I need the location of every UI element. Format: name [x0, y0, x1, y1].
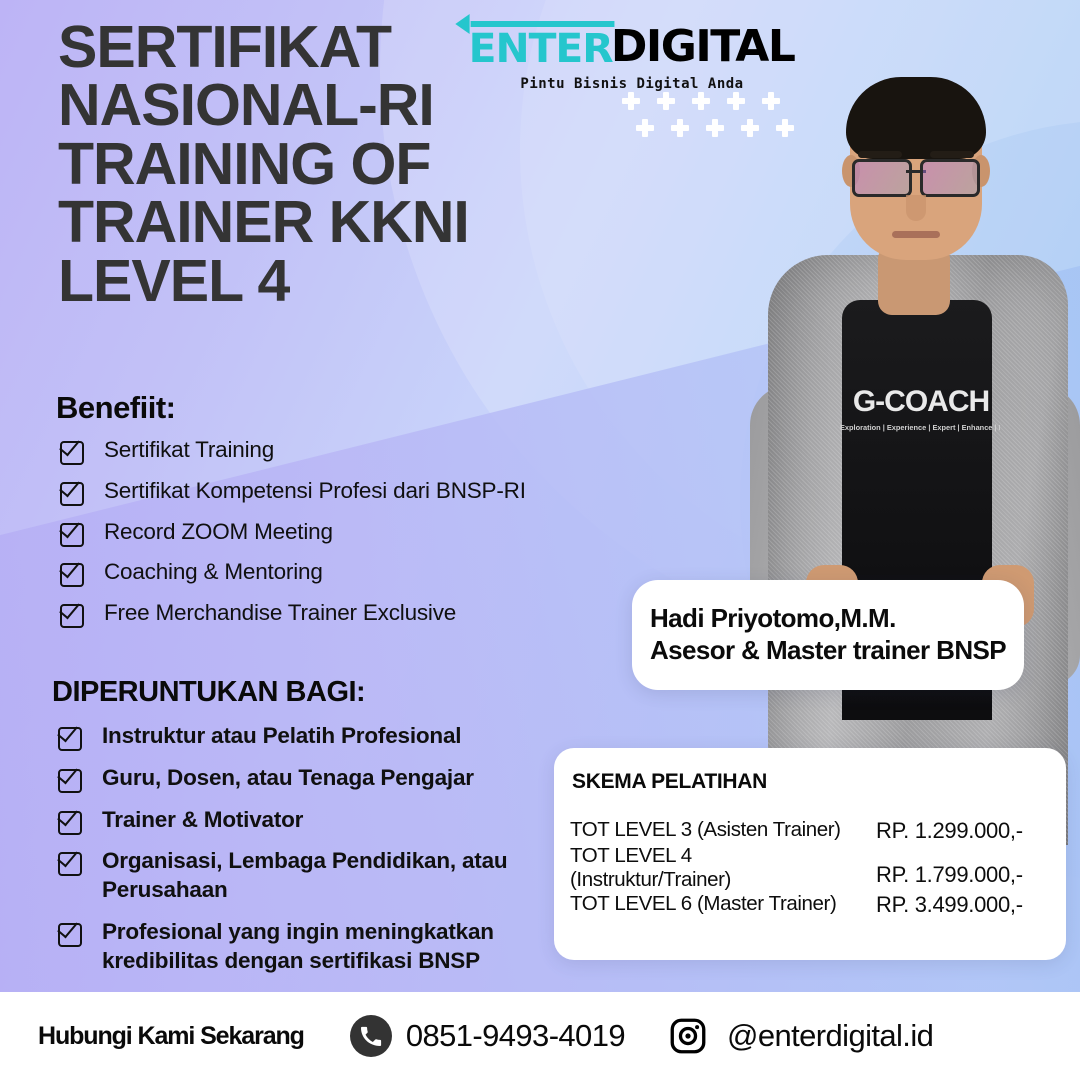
photo-tshirt-text: G-COACH [846, 385, 996, 419]
poster: SERTIFIKAT NASIONAL-RI TRAINING OF TRAIN… [0, 0, 1080, 1080]
pricing-label: TOT LEVEL 4 (Instruktur/Trainer) [570, 844, 876, 892]
logo-enter-label: ENTER [468, 26, 612, 72]
checkbox-checked-icon [58, 850, 82, 874]
logo-wordmark: ENTER DIGITAL [512, 22, 752, 69]
pricing-price: RP. 1.299.000,- [876, 818, 1023, 844]
phone-icon[interactable] [350, 1015, 392, 1057]
pricing-label: TOT LEVEL 3 (Asisten Trainer) [570, 818, 876, 842]
pricing-row: TOT LEVEL 4 (Instruktur/Trainer) RP. 1.7… [570, 844, 1056, 892]
list-item-label: Record ZOOM Meeting [104, 518, 333, 547]
photo-hair [846, 77, 986, 159]
list-item: Record ZOOM Meeting [60, 518, 590, 547]
list-item: Instruktur atau Pelatih Profesional [58, 722, 578, 751]
photo-eyebrow-right [930, 151, 974, 158]
photo-nose [906, 195, 926, 221]
pricing-rows: TOT LEVEL 3 (Asisten Trainer) RP. 1.299.… [570, 818, 1056, 918]
speaker-name-card: Hadi Priyotomo,M.M. Asesor & Master trai… [632, 580, 1024, 690]
list-item-label: Sertifikat Kompetensi Profesi dari BNSP-… [104, 477, 526, 506]
list-item-label: Trainer & Motivator [102, 806, 303, 835]
list-item: Coaching & Mentoring [60, 558, 590, 587]
contact-phone-number[interactable]: 0851-9493-4019 [406, 1018, 625, 1054]
pricing-price: RP. 3.499.000,- [876, 892, 1023, 918]
checkbox-checked-icon [58, 921, 82, 945]
benefit-list: Sertifikat Training Sertifikat Kompetens… [60, 436, 590, 640]
list-item: Trainer & Motivator [58, 806, 578, 835]
contact-instagram-handle[interactable]: @enterdigital.id [727, 1018, 933, 1054]
checkbox-checked-icon [58, 809, 82, 833]
checkbox-checked-icon [60, 439, 84, 463]
pricing-price: RP. 1.799.000,- [876, 844, 1023, 888]
logo-enter-text: ENTER [468, 22, 612, 69]
logo-arrow-bar-icon [470, 21, 614, 27]
target-heading: DIPERUNTUKAN BAGI: [52, 676, 365, 709]
photo-eyebrow-left [858, 151, 902, 158]
checkbox-checked-icon [60, 561, 84, 585]
list-item: Organisasi, Lembaga Pendidikan, atau Per… [58, 847, 578, 905]
list-item-label: Instruktur atau Pelatih Profesional [102, 722, 461, 751]
speaker-name: Hadi Priyotomo,M.M. [650, 603, 1006, 635]
checkbox-checked-icon [58, 767, 82, 791]
list-item: Guru, Dosen, atau Tenaga Pengajar [58, 764, 578, 793]
photo-mouth [892, 231, 940, 238]
pricing-card: SKEMA PELATIHAN TOT LEVEL 3 (Asisten Tra… [554, 748, 1066, 960]
plus-icon [657, 92, 675, 110]
glasses-lens-right [920, 159, 980, 197]
glasses-icon [852, 159, 980, 193]
list-item-label: Coaching & Mentoring [104, 558, 323, 587]
target-list: Instruktur atau Pelatih Profesional Guru… [58, 722, 578, 989]
contact-cta-label: Hubungi Kami Sekarang [38, 1022, 304, 1051]
plus-icon [727, 92, 745, 110]
list-item: Sertifikat Kompetensi Profesi dari BNSP-… [60, 477, 590, 506]
list-item-label: Guru, Dosen, atau Tenaga Pengajar [102, 764, 474, 793]
title-line-3: TRAINING OF [58, 135, 578, 193]
plus-icon [636, 119, 654, 137]
list-item-label: Profesional yang ingin meningkatkan kred… [102, 918, 578, 976]
contact-footer: Hubungi Kami Sekarang 0851-9493-4019 @en… [0, 992, 1080, 1080]
plus-icon [622, 92, 640, 110]
pricing-row: TOT LEVEL 3 (Asisten Trainer) RP. 1.299.… [570, 818, 1056, 844]
list-item-label: Organisasi, Lembaga Pendidikan, atau Per… [102, 847, 578, 905]
logo-tagline: Pintu Bisnis Digital Anda [512, 76, 752, 92]
list-item: Sertifikat Training [60, 436, 590, 465]
checkbox-checked-icon [60, 480, 84, 504]
glasses-lens-left [852, 159, 912, 197]
pricing-label: TOT LEVEL 6 (Master Trainer) [570, 892, 876, 916]
title-line-4: TRAINER KKNI [58, 193, 578, 251]
photo-tshirt-subtext: Exploration | Experience | Expert | Enha… [840, 423, 1000, 432]
benefit-heading: Benefiit: [56, 390, 176, 426]
title-line-2: NASIONAL-RI [58, 76, 578, 134]
speaker-photo: G-COACH Exploration | Experience | Exper… [750, 55, 1080, 845]
list-item: Free Merchandise Trainer Exclusive [60, 599, 590, 628]
list-item-label: Sertifikat Training [104, 436, 274, 465]
pricing-title: SKEMA PELATIHAN [572, 770, 767, 794]
checkbox-checked-icon [58, 725, 82, 749]
instagram-icon[interactable] [665, 1013, 711, 1059]
list-item-label: Free Merchandise Trainer Exclusive [104, 599, 456, 628]
plus-icon [692, 92, 710, 110]
plus-icon [671, 119, 689, 137]
pricing-row: TOT LEVEL 6 (Master Trainer) RP. 3.499.0… [570, 892, 1056, 918]
plus-icon [706, 119, 724, 137]
logo-arrow-head-icon [455, 14, 469, 34]
checkbox-checked-icon [60, 521, 84, 545]
checkbox-checked-icon [60, 602, 84, 626]
list-item: Profesional yang ingin meningkatkan kred… [58, 918, 578, 976]
title-line-5: LEVEL 4 [58, 252, 578, 310]
speaker-role: Asesor & Master trainer BNSP [650, 635, 1006, 667]
brand-logo: ENTER DIGITAL Pintu Bisnis Digital Anda [512, 22, 752, 92]
